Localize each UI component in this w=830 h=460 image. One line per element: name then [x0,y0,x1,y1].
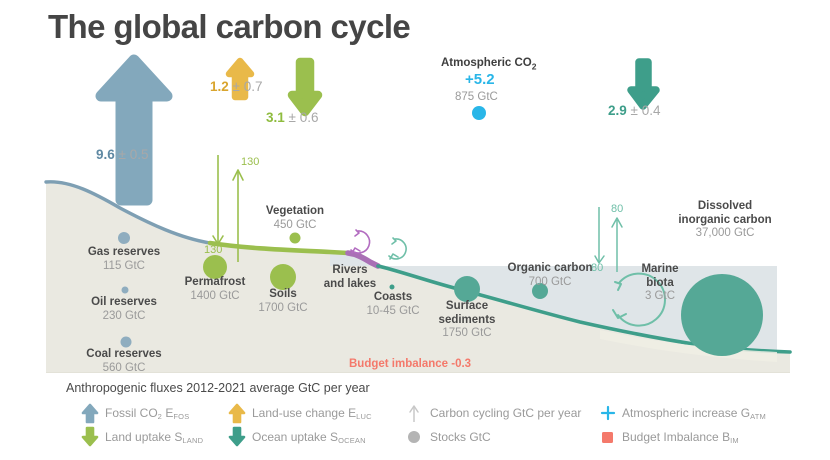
budget-imbalance-label: Budget imbalance -0.3 [349,358,471,370]
legend-label-land-uptake: Land uptake SLAND [105,430,203,444]
infographic-canvas: The global carbon cycle 9.6 ± 0.5 1.2 ± … [0,0,830,460]
stock-label-surface-sediments: Surfacesediments1750 GtC [417,300,517,341]
arrow-up-icon [80,402,100,424]
stock-label-marine-biota: Marinebiota3 GtC [615,263,705,304]
square-icon [600,429,616,445]
thin-arrow-up-icon [406,404,422,424]
stock-dot-coasts [390,285,395,290]
ocean-cycling-up-label: 80 [611,203,623,215]
atmosphere-stock: 875 GtC [455,91,498,103]
stock-dot-gas [118,232,130,244]
stock-label-vegetation: Vegetation450 GtC [245,205,345,232]
legend-label-stocks: Stocks GtC [430,430,491,444]
stock-dot-coal [121,337,132,348]
legend-label-fossil: Fossil CO2 EFOS [105,406,189,420]
stock-label-dissolved-inorganic-carbon: Dissolvedinorganic carbon37,000 GtC [660,200,790,241]
legend-label-atmospheric-increase: Atmospheric increase GATM [622,406,766,420]
fossil-flux-arrow [101,60,167,200]
legend-heading: Anthropogenic fluxes 2012-2021 average G… [66,381,370,395]
stock-label-organic-carbon: Organic carbon700 GtC [490,262,610,289]
land-uptake-flux-arrow [292,62,318,112]
stock-dot-vegetation [290,233,301,244]
stock-dot-oil [122,287,129,294]
land-cycling-up-label: 130 [241,156,259,168]
legend-label-budget-imbalance: Budget Imbalance BIM [622,430,739,444]
stock-dot-surface-sediments [454,276,480,302]
stock-dot-soils [270,264,296,290]
legend-label-ocean-uptake: Ocean uptake SOCEAN [252,430,366,444]
page-title: The global carbon cycle [48,8,410,46]
legend-label-landuse: Land-use change ELUC [252,406,372,420]
circle-icon [406,429,422,445]
arrow-down-icon [80,426,100,448]
plus-icon [600,405,616,421]
atmosphere-increase: +5.2 [465,71,495,88]
arrow-down-icon [227,426,247,448]
ocean-uptake-flux-arrow [631,62,656,106]
land-cycling-down-label: 130 [204,244,222,256]
stock-dot-atmosphere [472,106,486,120]
rivers-cycle-icon [351,230,370,253]
ocean-uptake-flux-label: 2.9 ± 0.4 [608,103,660,118]
stock-label-coal: Coal reserves560 GtC [74,348,174,375]
fossil-flux-label: 9.6 ± 0.5 [96,147,148,162]
landuse-flux-label: 1.2 ± 0.7 [210,79,262,94]
arrow-up-icon [227,402,247,424]
stock-label-soils: Soils1700 GtC [233,288,333,315]
atmosphere-label: Atmospheric CO2 [441,57,536,71]
land-uptake-flux-label: 3.1 ± 0.6 [266,110,318,125]
stock-label-rivers: Riversand lakes [312,264,388,291]
legend-label-carbon-cycling: Carbon cycling GtC per year [430,406,581,420]
stock-label-oil: Oil reserves230 GtC [74,296,174,323]
coasts-cycle-icon [389,238,406,259]
stock-label-gas: Gas reserves115 GtC [74,246,174,273]
